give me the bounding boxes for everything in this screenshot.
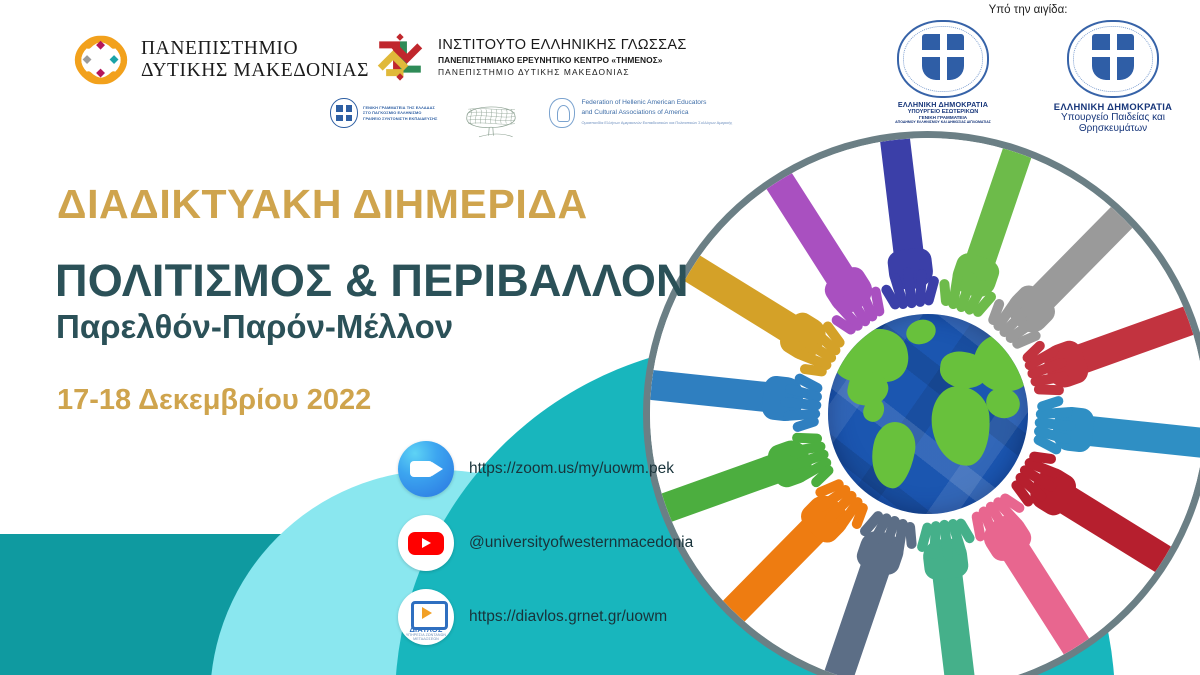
shield-cross-horizontal (1092, 50, 1134, 57)
youtube-handle-label[interactable]: @universityofwesternmacedonia (469, 534, 693, 552)
institute-knot-icon (372, 31, 428, 83)
knot-svg (372, 31, 428, 83)
tree-logo-icon (455, 98, 527, 142)
shield-cross-vertical (940, 34, 947, 80)
event-subtitle: Παρελθόν-Παρόν-Μέλλον (56, 308, 453, 346)
zoom-link-label[interactable]: https://zoom.us/my/uowm.pek (469, 460, 674, 478)
hand-arm (650, 365, 780, 414)
contact-row-youtube[interactable]: @universityofwesternmacedonia (398, 512, 728, 574)
greek-flag-shield (1092, 34, 1134, 80)
shield-cross-horizontal (922, 50, 964, 57)
finger (938, 279, 950, 307)
globe-icon (828, 314, 1028, 514)
diavlos-subtitle: ΥΠΗΡΕΣΙΑ ΖΩΝΤΑΝΩΝ ΜΕΤΑΔΟΣΕΩΝ (402, 633, 450, 641)
event-kicker: ΔΙΑΔΙΚΤΥΑΚΗ ΔΙΗΜΕΡΙΔΑ (57, 181, 588, 228)
uowm-logo-text: ΠΑΝΕΠΙΣΤΗΜΙΟ ΔΥΤΙΚΗΣ ΜΑΚΕΔΟΝΙΑΣ (141, 38, 369, 82)
federation-inner-shape (557, 105, 570, 122)
crest-cross-horizontal (336, 112, 352, 115)
aegis-block: Υπό την αιγίδα: ΕΛΛΗΝΙΚΗ ΔΗΜΟΚΡΑΤΙΑ ΥΠΟΥ… (868, 4, 1188, 134)
institute-line1: ΙΝΣΤΙΤΟΥΤΟ ΕΛΛΗΝΙΚΗΣ ΓΛΩΣΣΑΣ (438, 37, 687, 53)
education-line1: ΕΛΛΗΝΙΚΗ ΔΗΜΟΚΡΑΤΙΑ (1038, 101, 1188, 112)
federation-line2: and Cultural Associations of America (581, 108, 732, 118)
ministry-interior-logo: ΕΛΛΗΝΙΚΗ ΔΗΜΟΚΡΑΤΙΑ ΥΠΟΥΡΓΕΙΟ ΕΣΩΤΕΡΙΚΩΝ… (868, 20, 1018, 124)
greek-flag-shield (922, 34, 964, 80)
camera-lens-shape (432, 462, 443, 476)
hands-around-globe-artwork (650, 138, 1200, 675)
federation-logo-text: Federation of Hellenic American Educator… (581, 98, 732, 126)
education-line2: Υπουργείο Παιδείας και Θρησκευμάτων (1038, 112, 1188, 134)
aegis-label: Υπό την αιγίδα: (868, 4, 1188, 16)
poster-canvas: ΔΙΑΔΙΚΤΥΑΚΗ ΔΙΗΜΕΡΙΔΑ ΠΟΛΙΤΙΣΜΟΣ & ΠΕΡΙΒ… (0, 0, 1200, 675)
page-title: ΠΟΛΙΤΙΣΜΟΣ & ΠΕΡΙΒΑΛΛΟΝ (55, 255, 689, 307)
diaspora-secretariat-logo: ΓΕΝΙΚΗ ΓΡΑΜΜΑΤΕΙΑ ΤΗΣ ΕΛΛΑΔΑΣ ΣΤΟ ΠΑΓΚΟΣ… (330, 98, 437, 128)
finger (904, 522, 916, 550)
diavlos-link-label[interactable]: https://diavlos.grnet.gr/uowm (469, 608, 667, 626)
aegis-logos: ΕΛΛΗΝΙΚΗ ΔΗΜΟΚΡΑΤΙΑ ΥΠΟΥΡΓΕΙΟ ΕΣΩΤΕΡΙΚΩΝ… (868, 20, 1188, 134)
uowm-knot-icon (74, 33, 128, 87)
interior-line4: ΑΠΟΔΗΜΟΥ ΕΛΛΗΝΙΣΜΟΥ ΚΑΙ ΔΗΜΟΣΙΑΣ ΔΙΠΛΩΜΑ… (868, 120, 1018, 124)
uowm-logo-line2: ΔΥΤΙΚΗΣ ΜΑΚΕΔΟΝΙΑΣ (141, 60, 369, 82)
contact-row-zoom[interactable]: https://zoom.us/my/uowm.pek (398, 438, 728, 500)
play-triangle-icon (422, 538, 431, 548)
uowm-logo-line1: ΠΑΝΕΠΙΣΤΗΜΙΟ (141, 38, 369, 60)
institute-greek-language-logo: ΙΝΣΤΙΤΟΥΤΟ ΕΛΛΗΝΙΚΗΣ ΓΛΩΣΣΑΣ ΠΑΝΕΠΙΣΤΗΜΙ… (372, 31, 687, 83)
event-dates: 17-18 Δεκεμβρίου 2022 (57, 384, 371, 417)
knot-svg (74, 33, 128, 87)
contact-links: https://zoom.us/my/uowm.pek @universityo… (398, 438, 728, 660)
shield-cross-vertical (1110, 34, 1117, 80)
play-triangle-icon (422, 607, 432, 619)
institute-logo-text: ΙΝΣΤΙΤΟΥΤΟ ΕΛΛΗΝΙΚΗΣ ΓΛΩΣΣΑΣ ΠΑΝΕΠΙΣΤΗΜΙ… (438, 37, 687, 78)
federation-line3: Ομοσπονδία Ελλήνων Αμερικανών Εκπαιδευτι… (581, 120, 732, 126)
tree-svg (455, 98, 527, 142)
contact-row-diavlos[interactable]: ΔΙΑΥΛΟΣ ΥΠΗΡΕΣΙΑ ΖΩΝΤΑΝΩΝ ΜΕΤΑΔΟΣΕΩΝ htt… (398, 586, 728, 648)
federation-line1: Federation of Hellenic American Educator… (581, 98, 732, 108)
ministry-education-logo: ΕΛΛΗΝΙΚΗ ΔΗΜΟΚΡΑΤΙΑ Υπουργείο Παιδείας κ… (1038, 20, 1188, 134)
uowm-logo: ΠΑΝΕΠΙΣΤΗΜΙΟ ΔΥΤΙΚΗΣ ΜΑΚΕΔΟΝΙΑΣ (74, 33, 369, 87)
federation-crest-icon (549, 98, 575, 128)
partner-logos-row: ΓΕΝΙΚΗ ΓΡΑΜΜΑΤΕΙΑ ΤΗΣ ΕΛΛΑΔΑΣ ΣΤΟ ΠΑΓΚΟΣ… (330, 98, 732, 142)
hellenic-republic-emblem-icon (1067, 20, 1159, 98)
youtube-icon[interactable] (398, 515, 454, 571)
diaspora-logo-text: ΓΕΝΙΚΗ ΓΡΑΜΜΑΤΕΙΑ ΤΗΣ ΕΛΛΑΔΑΣ ΣΤΟ ΠΑΓΚΟΣ… (363, 105, 437, 121)
zoom-icon[interactable] (398, 441, 454, 497)
greek-flag-crest-icon (330, 98, 358, 128)
diaspora-line3: ΓΡΑΦΕΙΟ ΣΥΝΤΟΝΙΣΤΗ ΕΚΠΑΙΔΕΥΣΗΣ (363, 116, 437, 121)
artwork-clip (650, 138, 1200, 675)
interior-line1: ΕΛΛΗΝΙΚΗ ΔΗΜΟΚΡΑΤΙΑ (868, 100, 1018, 109)
institute-line3: ΠΑΝΕΠΙΣΤΗΜΙΟ ΔΥΤΙΚΗΣ ΜΑΚΕΔΟΝΙΑΣ (438, 67, 687, 77)
camera-body-shape (410, 461, 433, 477)
hellenic-republic-emblem-icon (897, 20, 989, 98)
institute-line2: ΠΑΝΕΠΙΣΤΗΜΙΑΚΟ ΕΡΕΥΝΗΤΙΚΟ ΚΕΝΤΡΟ «ΤΗΜΕΝΟ… (438, 55, 687, 65)
diavlos-icon[interactable]: ΔΙΑΥΛΟΣ ΥΠΗΡΕΣΙΑ ΖΩΝΤΑΝΩΝ ΜΕΤΑΔΟΣΕΩΝ (398, 589, 454, 645)
federation-logo: Federation of Hellenic American Educator… (549, 98, 732, 128)
